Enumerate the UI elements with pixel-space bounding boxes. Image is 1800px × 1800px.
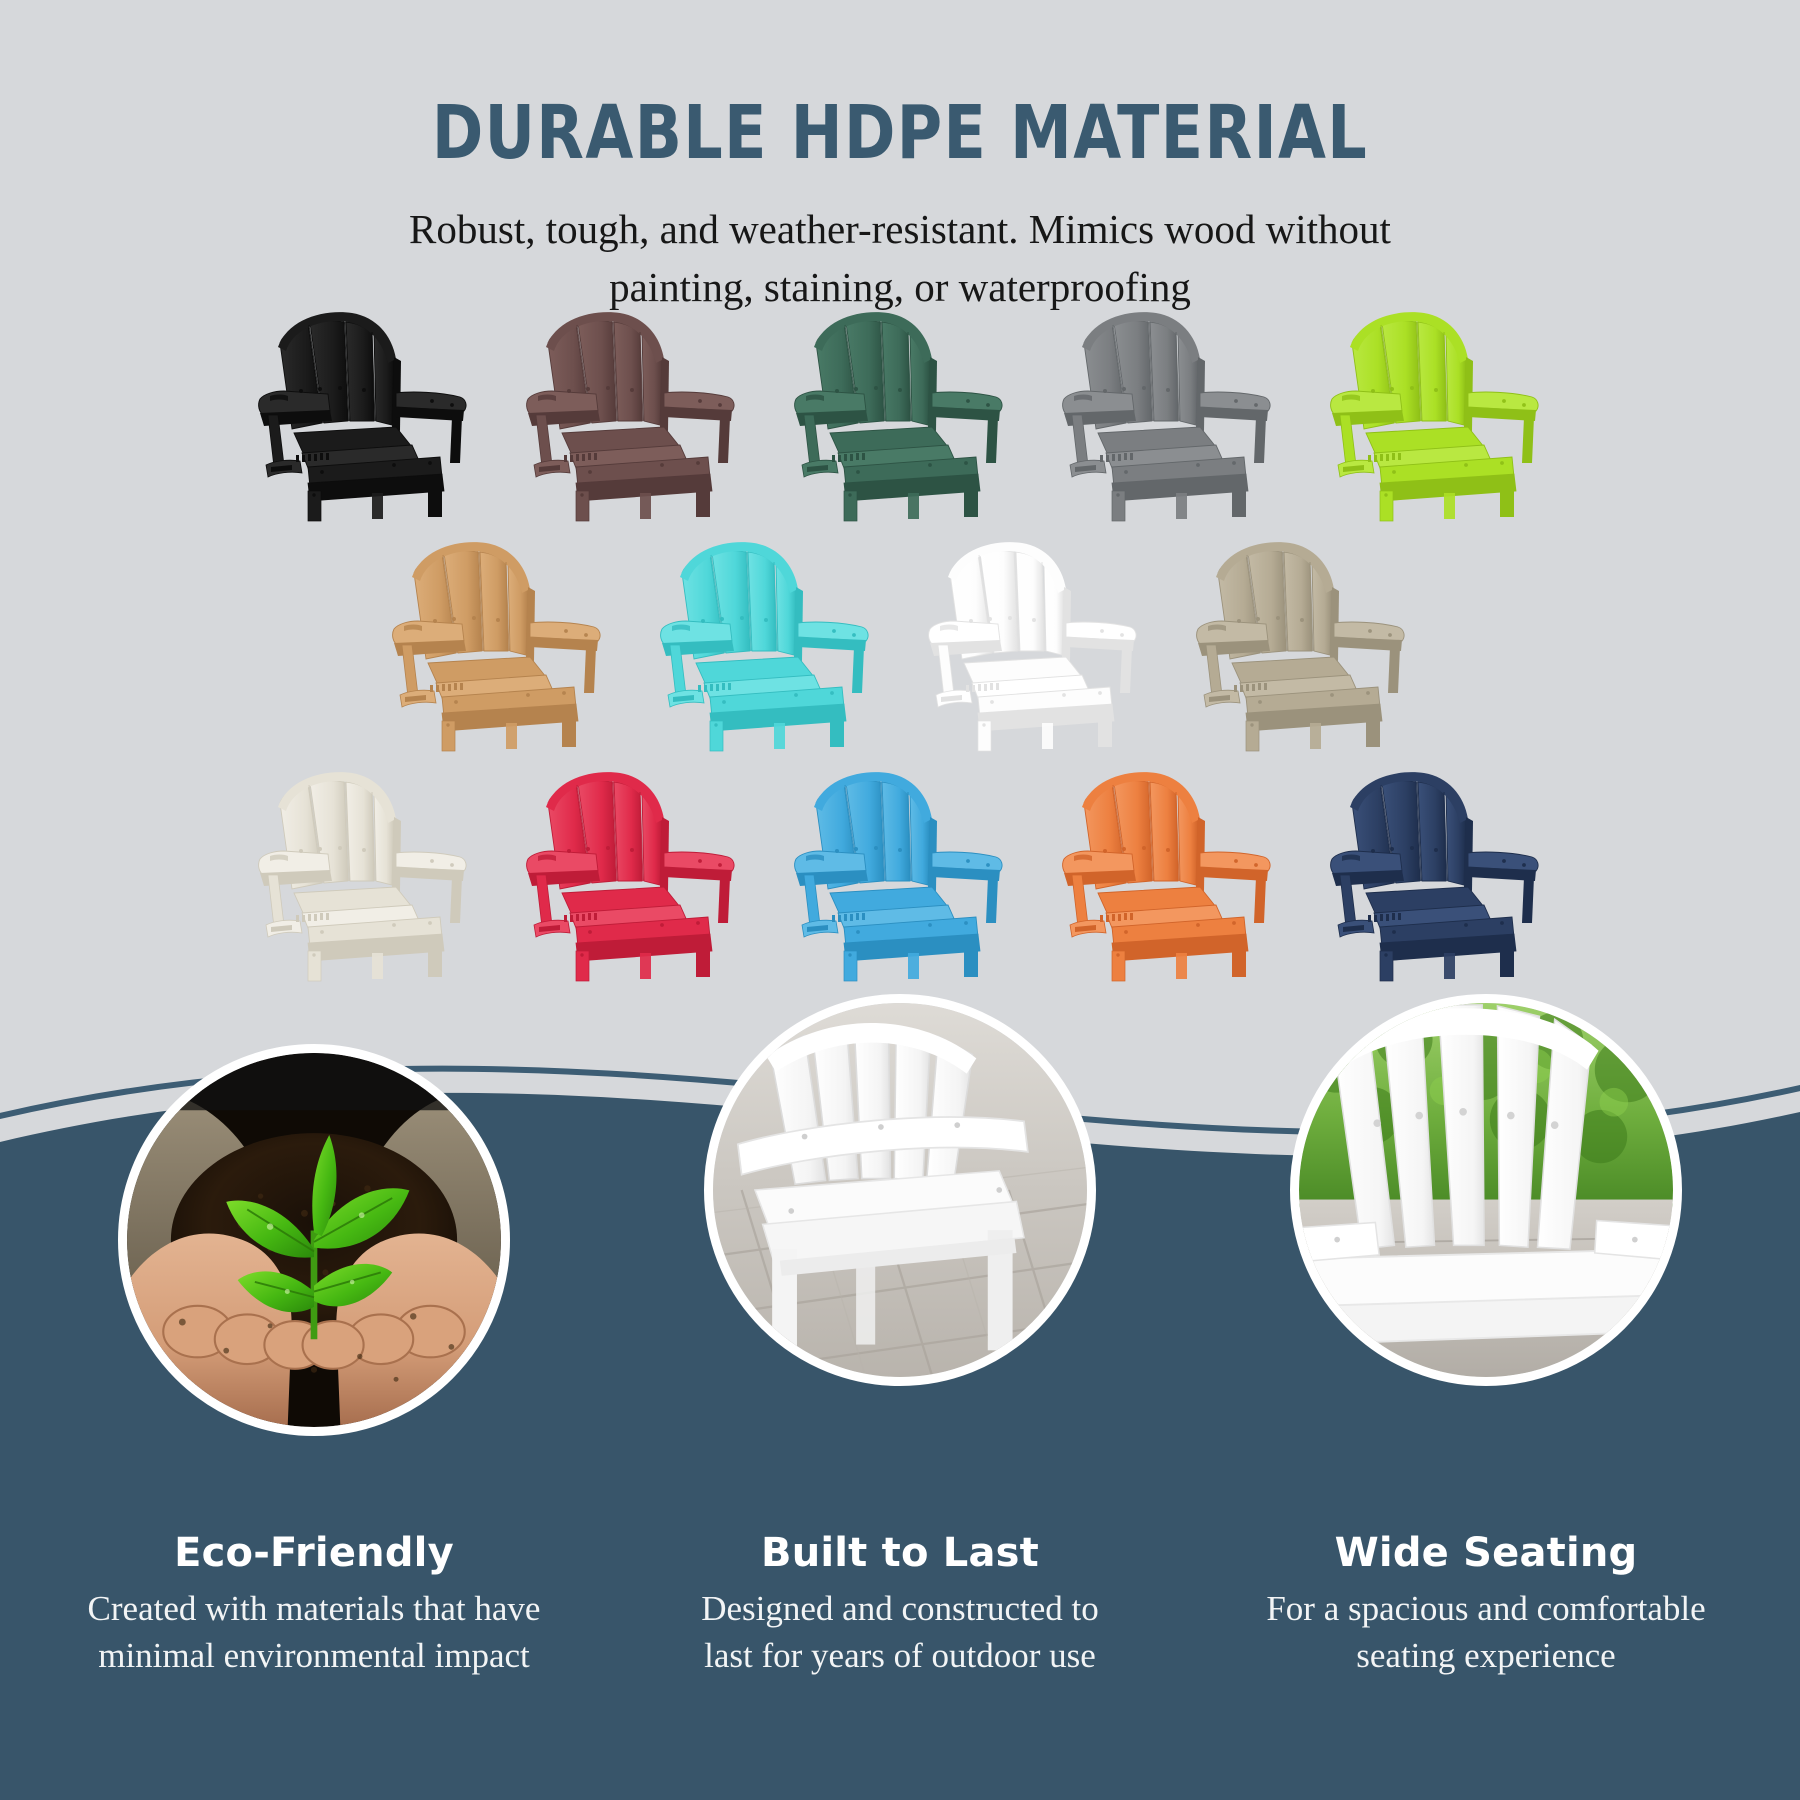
page-title: DURABLE HDPE MATERIAL [63,0,1737,170]
feature-desc-built-to-last: Designed and constructed to last for yea… [620,1586,1180,1679]
feature-photo-eco-friendly [118,1044,510,1436]
chair-swatch-gray[interactable] [1048,295,1288,525]
adirondack-chair-icon [512,295,752,525]
white-chair-wide-seat-icon [1299,1003,1673,1377]
seedling-in-hands-icon [127,1053,501,1427]
chair-swatch-ivory[interactable] [244,755,484,985]
feature-photos [0,1050,1800,1800]
chair-swatch-red[interactable] [512,755,752,985]
adirondack-chair-icon [1048,755,1288,985]
feature-desc-wide-seating: For a spacious and comfortable seating e… [1206,1586,1766,1679]
subtitle-line-1: Robust, tough, and weather-resistant. Mi… [0,200,1800,258]
infographic-canvas: DURABLE HDPE MATERIAL Robust, tough, and… [0,0,1800,1800]
feature-card-wide-seating: Wide Seating For a spacious and comforta… [1206,1530,1766,1679]
feature-photo-built-to-last [704,994,1096,1386]
feature-heading-built-to-last: Built to Last [620,1530,1180,1576]
white-chair-patio-icon [713,1003,1087,1377]
adirondack-chair-icon [1316,295,1556,525]
adirondack-chair-icon [244,755,484,985]
chair-swatch-teak[interactable] [378,525,618,755]
header: DURABLE HDPE MATERIAL Robust, tough, and… [0,0,1800,316]
adirondack-chair-icon [1048,295,1288,525]
chair-swatch-dark-brown[interactable] [512,295,752,525]
chair-swatch-orange[interactable] [1048,755,1288,985]
adirondack-chair-icon [1182,525,1422,755]
adirondack-chair-icon [780,295,1020,525]
feature-desc-eco-friendly: Created with materials that have minimal… [34,1586,594,1679]
chair-swatch-sky-blue[interactable] [780,755,1020,985]
adirondack-chair-icon [780,755,1020,985]
feature-card-built-to-last: Built to Last Designed and constructed t… [620,1530,1180,1679]
chair-swatch-turquoise[interactable] [646,525,886,755]
feature-heading-wide-seating: Wide Seating [1206,1530,1766,1576]
feature-photo-wide-seating [1290,994,1682,1386]
feature-heading-eco-friendly: Eco-Friendly [34,1530,594,1576]
chair-swatch-khaki[interactable] [1182,525,1422,755]
adirondack-chair-icon [512,755,752,985]
chair-row-1 [0,295,1800,525]
adirondack-chair-icon [646,525,886,755]
feature-card-eco-friendly: Eco-Friendly Created with materials that… [34,1530,594,1679]
footer-section: Eco-Friendly Created with materials that… [0,1050,1800,1800]
chair-swatch-navy-blue[interactable] [1316,755,1556,985]
chair-swatch-black[interactable] [244,295,484,525]
chair-swatch-lime-green[interactable] [1316,295,1556,525]
chair-row-2 [0,525,1800,755]
adirondack-chair-icon [378,525,618,755]
chair-swatch-white[interactable] [914,525,1154,755]
chair-swatch-dark-green[interactable] [780,295,1020,525]
chair-row-3 [0,755,1800,985]
adirondack-chair-icon [914,525,1154,755]
adirondack-chair-icon [1316,755,1556,985]
adirondack-chair-icon [244,295,484,525]
